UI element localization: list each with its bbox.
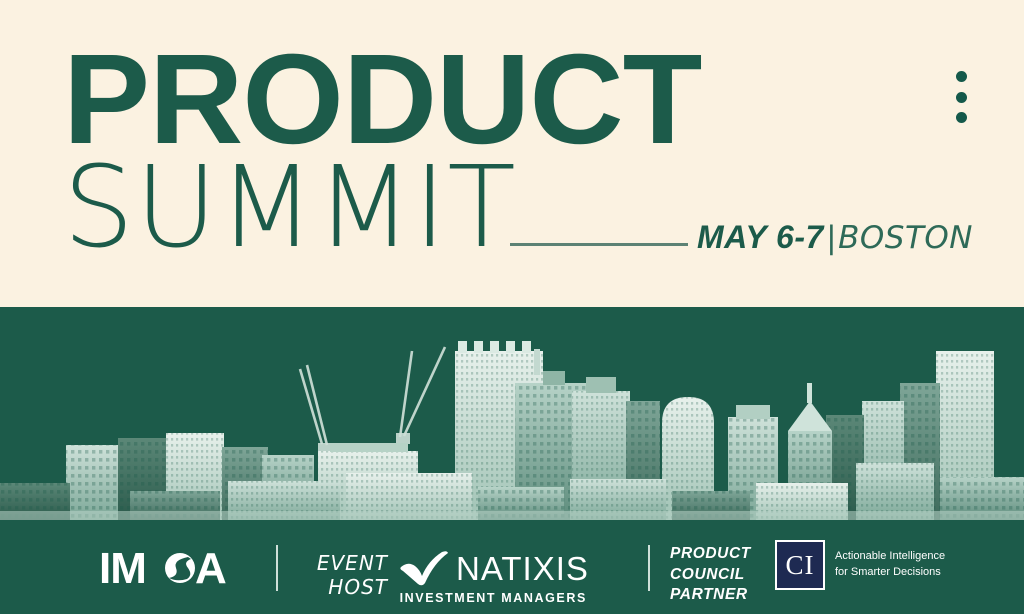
ci-monogram: CI <box>775 540 825 590</box>
date-city-separator: | <box>824 219 838 255</box>
logo-divider <box>276 545 278 591</box>
council-line2: COUNCIL <box>670 565 751 586</box>
product-council-partner-label: PRODUCT COUNCIL PARTNER <box>670 544 751 606</box>
kebab-dot <box>956 112 967 123</box>
svg-text:A: A <box>195 546 226 590</box>
event-city: BOSTON <box>838 220 973 256</box>
natixis-checkmark-icon <box>398 549 450 587</box>
council-line3: PARTNER <box>670 585 751 606</box>
event-host-label: EVENT HOST <box>292 551 388 600</box>
event-host-line2: HOST <box>292 575 388 599</box>
natixis-wordmark: NATIXIS <box>456 552 589 585</box>
council-line1: PRODUCT <box>670 544 751 565</box>
event-date: MAY 6-7 <box>697 219 824 255</box>
ci-tagline: Actionable Intelligence for Smarter Deci… <box>835 549 945 581</box>
natixis-subtitle: INVESTMENT MANAGERS <box>398 591 589 605</box>
event-date-location: MAY 6-7|BOSTON <box>697 219 973 256</box>
ci-tagline-line2: for Smarter Decisions <box>835 565 945 581</box>
boston-skyline-image <box>0 307 1024 520</box>
title-underline-rule <box>510 243 688 246</box>
logo-divider <box>648 545 650 591</box>
kebab-dot <box>956 71 967 82</box>
page-title-line2: SUMMIT <box>63 152 517 264</box>
event-host-line1: EVENT <box>292 551 388 575</box>
product-summit-banner: PRODUCT SUMMIT MAY 6-7|BOSTON <box>0 0 1024 614</box>
imca-logo[interactable]: IM A <box>99 547 245 589</box>
natixis-logo[interactable]: NATIXIS INVESTMENT MANAGERS <box>398 549 589 605</box>
ci-partner-logo[interactable]: CI Actionable Intelligence for Smarter D… <box>775 540 945 590</box>
svg-text:IM: IM <box>99 546 146 590</box>
hero-section: PRODUCT SUMMIT MAY 6-7|BOSTON <box>0 0 1024 307</box>
kebab-menu-icon[interactable] <box>953 71 969 123</box>
kebab-dot <box>956 92 967 103</box>
ci-tagline-line1: Actionable Intelligence <box>835 549 945 565</box>
